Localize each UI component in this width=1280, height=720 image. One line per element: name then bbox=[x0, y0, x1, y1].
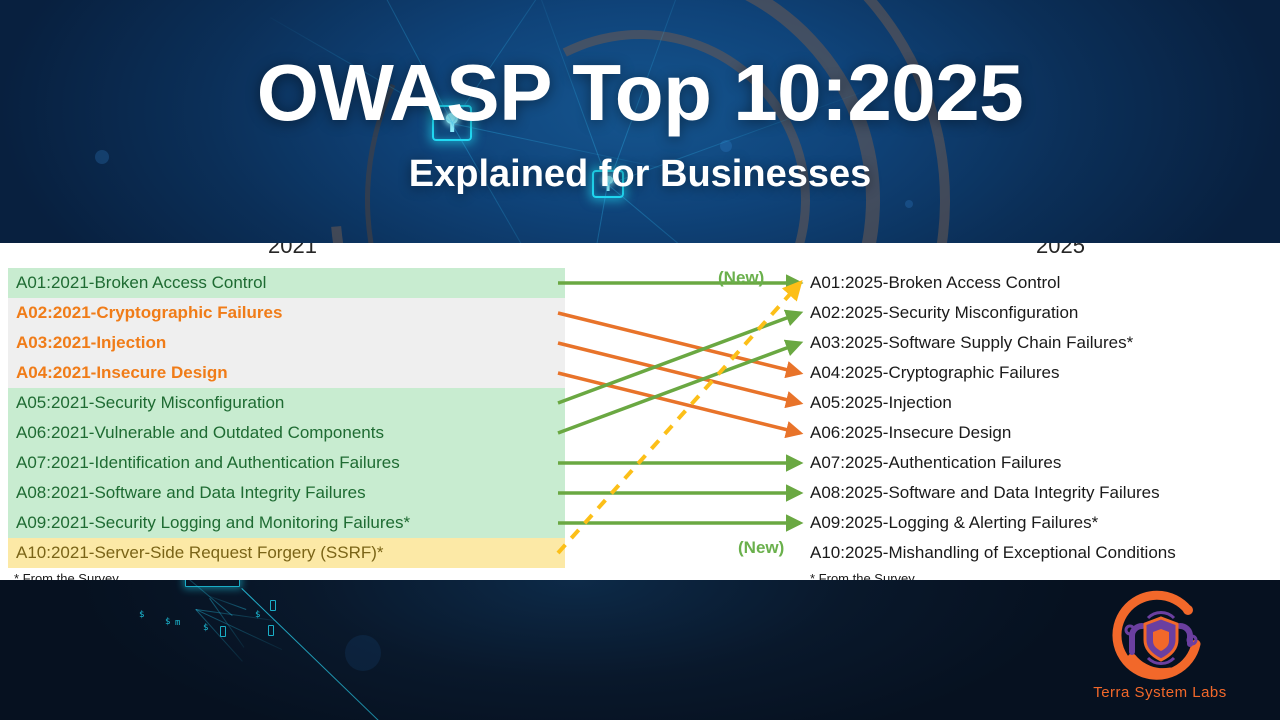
currency-glyph-4: $ bbox=[255, 610, 260, 620]
logo-wordmark: Terra System Labs bbox=[1070, 684, 1250, 701]
chip-glyph-3 bbox=[268, 625, 274, 636]
title-block: OWASP Top 10:2025 Explained for Business… bbox=[0, 0, 1280, 245]
currency-glyph-1: $ bbox=[139, 610, 144, 620]
arrow-4-to-6 bbox=[558, 373, 800, 433]
footnote-right: * From the Survey bbox=[810, 571, 915, 580]
logo-mark-icon bbox=[1070, 588, 1250, 684]
arrow-3-to-5 bbox=[558, 343, 800, 403]
footnote-left: * From the Survey bbox=[14, 571, 119, 580]
brand-logo: Terra System Labs bbox=[1070, 588, 1250, 708]
currency-glyph-5: m bbox=[175, 618, 180, 628]
page-title: OWASP Top 10:2025 bbox=[257, 53, 1024, 133]
currency-glyph-2: $ bbox=[165, 617, 170, 627]
currency-glyph-3: $ bbox=[203, 623, 208, 633]
chip-glyph-2 bbox=[220, 626, 226, 637]
owasp-comparison-slide: 2021 2025 A01:2021-Broken Access Control… bbox=[0, 243, 1280, 580]
new-badge-a03: (New) bbox=[718, 268, 764, 288]
network-line-f6 bbox=[208, 595, 246, 610]
chip-glyph-1 bbox=[270, 600, 276, 611]
header-banner: OWASP Top 10:2025 Explained for Business… bbox=[0, 0, 1280, 245]
glow-dot-f1 bbox=[345, 635, 381, 671]
page-subtitle: Explained for Businesses bbox=[409, 155, 872, 193]
network-beam bbox=[241, 588, 573, 720]
new-badge-a10: (New) bbox=[738, 538, 784, 558]
mapping-arrows bbox=[0, 243, 1280, 580]
